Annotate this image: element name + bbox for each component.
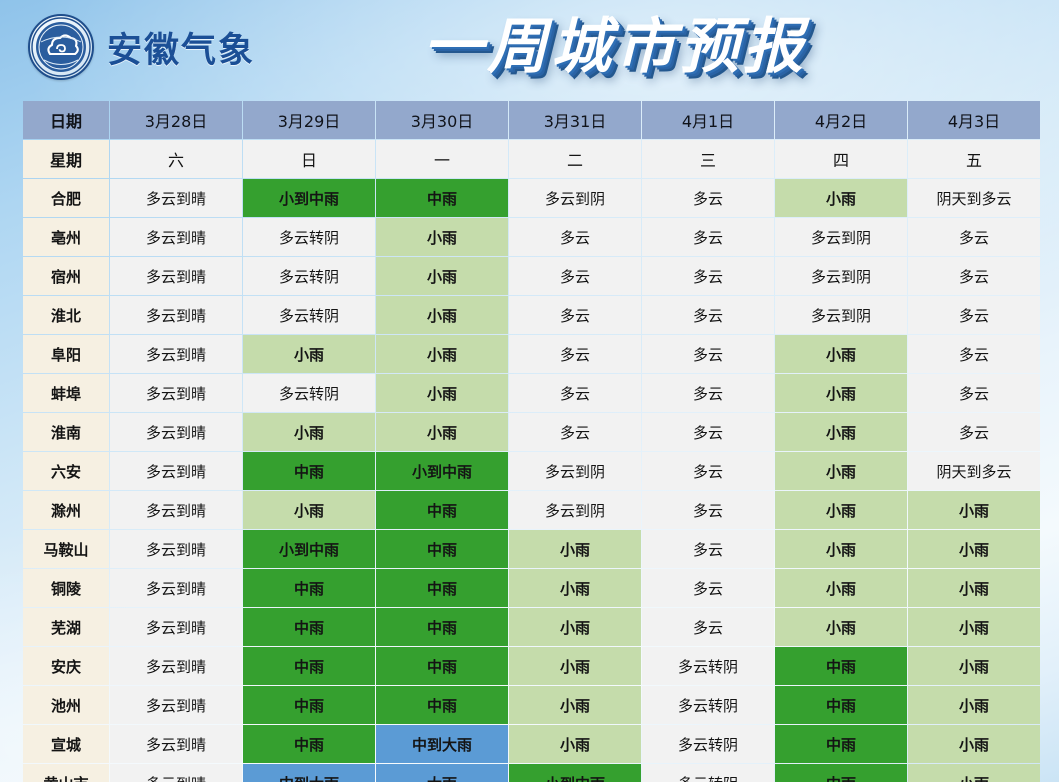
forecast-cell: 小到中雨: [243, 530, 375, 568]
column-header-date-3: 3月30日: [376, 101, 508, 139]
table-row: 蚌埠多云到晴多云转阴小雨多云多云小雨多云: [23, 374, 1040, 412]
forecast-cell: 小雨: [775, 569, 907, 607]
brand-block: 安徽气象: [28, 14, 255, 80]
forecast-cell: 多云: [642, 452, 774, 490]
forecast-table-container: 日期3月28日3月29日3月30日3月31日4月1日4月2日4月3日 星期六日一…: [22, 100, 1037, 782]
weekday-cell-1: 六: [110, 140, 242, 178]
table-row: 池州多云到晴中雨中雨小雨多云转阴中雨小雨: [23, 686, 1040, 724]
forecast-cell: 中雨: [775, 686, 907, 724]
forecast-cell: 小雨: [908, 686, 1040, 724]
forecast-cell: 多云到阴: [509, 452, 641, 490]
table-row: 淮南多云到晴小雨小雨多云多云小雨多云: [23, 413, 1040, 451]
weekday-cell-7: 五: [908, 140, 1040, 178]
forecast-cell: 多云到晴: [110, 647, 242, 685]
forecast-cell: 小雨: [243, 413, 375, 451]
forecast-cell: 小雨: [908, 530, 1040, 568]
city-name-cell: 马鞍山: [23, 530, 109, 568]
city-name-cell: 六安: [23, 452, 109, 490]
forecast-cell: 小雨: [775, 413, 907, 451]
forecast-cell: 小雨: [908, 647, 1040, 685]
forecast-cell: 小雨: [376, 257, 508, 295]
forecast-cell: 小雨: [775, 491, 907, 529]
city-name-cell: 蚌埠: [23, 374, 109, 412]
city-name-cell: 宿州: [23, 257, 109, 295]
weekday-cell-3: 一: [376, 140, 508, 178]
brand-name: 安徽气象: [107, 22, 255, 73]
forecast-cell: 多云转阴: [642, 725, 774, 763]
forecast-cell: 多云到晴: [110, 764, 242, 782]
column-header-date-1: 3月28日: [110, 101, 242, 139]
forecast-cell: 小雨: [376, 413, 508, 451]
forecast-cell: 多云到晴: [110, 686, 242, 724]
forecast-cell: 多云到晴: [110, 608, 242, 646]
forecast-cell: 中到大雨: [243, 764, 375, 782]
forecast-cell: 多云: [642, 413, 774, 451]
forecast-cell: 小雨: [243, 335, 375, 373]
forecast-cell: 多云到阴: [775, 257, 907, 295]
weekday-cell-6: 四: [775, 140, 907, 178]
forecast-cell: 多云到晴: [110, 374, 242, 412]
page-title: 一周城市预报: [380, 8, 850, 86]
forecast-cell: 多云: [908, 413, 1040, 451]
forecast-cell: 多云到晴: [110, 335, 242, 373]
forecast-cell: 中雨: [376, 608, 508, 646]
forecast-cell: 中雨: [775, 647, 907, 685]
forecast-cell: 多云: [642, 569, 774, 607]
forecast-cell: 多云到阴: [775, 218, 907, 256]
forecast-cell: 小雨: [243, 491, 375, 529]
table-row: 铜陵多云到晴中雨中雨小雨多云小雨小雨: [23, 569, 1040, 607]
forecast-cell: 小雨: [908, 725, 1040, 763]
forecast-cell: 多云: [642, 257, 774, 295]
table-row: 合肥多云到晴小到中雨中雨多云到阴多云小雨阴天到多云: [23, 179, 1040, 217]
table-row: 宿州多云到晴多云转阴小雨多云多云多云到阴多云: [23, 257, 1040, 295]
header-corner-date-label: 日期: [23, 101, 109, 139]
table-row: 芜湖多云到晴中雨中雨小雨多云小雨小雨: [23, 608, 1040, 646]
table-head: 日期3月28日3月29日3月30日3月31日4月1日4月2日4月3日 星期六日一…: [23, 101, 1040, 178]
column-header-date-7: 4月3日: [908, 101, 1040, 139]
forecast-cell: 多云到晴: [110, 491, 242, 529]
forecast-cell: 小雨: [509, 647, 641, 685]
forecast-cell: 多云转阴: [243, 296, 375, 334]
city-name-cell: 安庆: [23, 647, 109, 685]
forecast-cell: 多云: [908, 296, 1040, 334]
forecast-cell: 大雨: [376, 764, 508, 782]
forecast-cell: 小雨: [376, 335, 508, 373]
column-header-date-5: 4月1日: [642, 101, 774, 139]
forecast-cell: 多云到晴: [110, 296, 242, 334]
date-header-row: 日期3月28日3月29日3月30日3月31日4月1日4月2日4月3日: [23, 101, 1040, 139]
forecast-cell: 多云: [642, 608, 774, 646]
city-name-cell: 淮南: [23, 413, 109, 451]
forecast-cell: 多云: [509, 257, 641, 295]
forecast-cell: 多云: [642, 296, 774, 334]
forecast-cell: 中雨: [243, 569, 375, 607]
forecast-cell: 阴天到多云: [908, 179, 1040, 217]
table-row: 滁州多云到晴小雨中雨多云到阴多云小雨小雨: [23, 491, 1040, 529]
forecast-cell: 中雨: [243, 647, 375, 685]
cloud-emblem-icon: [28, 14, 94, 80]
forecast-cell: 小雨: [376, 296, 508, 334]
forecast-cell: 多云到晴: [110, 452, 242, 490]
table-row: 六安多云到晴中雨小到中雨多云到阴多云小雨阴天到多云: [23, 452, 1040, 490]
city-name-cell: 宣城: [23, 725, 109, 763]
forecast-cell: 多云: [642, 374, 774, 412]
forecast-cell: 小雨: [775, 179, 907, 217]
forecast-cell: 多云到晴: [110, 257, 242, 295]
weekday-cell-4: 二: [509, 140, 641, 178]
forecast-cell: 多云转阴: [243, 218, 375, 256]
forecast-cell: 中雨: [243, 686, 375, 724]
forecast-cell: 中雨: [243, 725, 375, 763]
forecast-cell: 多云到晴: [110, 413, 242, 451]
city-name-cell: 淮北: [23, 296, 109, 334]
city-name-cell: 池州: [23, 686, 109, 724]
forecast-cell: 多云到阴: [775, 296, 907, 334]
forecast-cell: 小雨: [509, 725, 641, 763]
city-name-cell: 亳州: [23, 218, 109, 256]
column-header-date-2: 3月29日: [243, 101, 375, 139]
forecast-cell: 小雨: [775, 608, 907, 646]
weekday-cell-5: 三: [642, 140, 774, 178]
forecast-cell: 小雨: [775, 530, 907, 568]
forecast-cell: 小雨: [775, 374, 907, 412]
forecast-cell: 阴天到多云: [908, 452, 1040, 490]
forecast-cell: 多云: [642, 218, 774, 256]
table-row: 亳州多云到晴多云转阴小雨多云多云多云到阴多云: [23, 218, 1040, 256]
forecast-cell: 中雨: [243, 608, 375, 646]
forecast-cell: 多云转阴: [642, 686, 774, 724]
forecast-cell: 多云转阴: [642, 647, 774, 685]
forecast-cell: 小到中雨: [243, 179, 375, 217]
column-header-date-4: 3月31日: [509, 101, 641, 139]
forecast-cell: 多云到晴: [110, 179, 242, 217]
city-name-cell: 黄山市: [23, 764, 109, 782]
forecast-cell: 多云: [509, 413, 641, 451]
forecast-cell: 多云到阴: [509, 179, 641, 217]
page-header: 安徽气象 一周城市预报: [0, 0, 1059, 92]
forecast-cell: 多云到晴: [110, 569, 242, 607]
forecast-cell: 小雨: [509, 530, 641, 568]
forecast-cell: 中雨: [376, 179, 508, 217]
forecast-cell: 中雨: [376, 491, 508, 529]
table-row: 淮北多云到晴多云转阴小雨多云多云多云到阴多云: [23, 296, 1040, 334]
city-name-cell: 合肥: [23, 179, 109, 217]
forecast-cell: 中雨: [376, 647, 508, 685]
forecast-cell: 多云到晴: [110, 725, 242, 763]
weekly-city-forecast-table: 日期3月28日3月29日3月30日3月31日4月1日4月2日4月3日 星期六日一…: [22, 100, 1041, 782]
column-header-date-6: 4月2日: [775, 101, 907, 139]
forecast-cell: 多云: [908, 218, 1040, 256]
table-row: 宣城多云到晴中雨中到大雨小雨多云转阴中雨小雨: [23, 725, 1040, 763]
forecast-cell: 多云到阴: [509, 491, 641, 529]
forecast-cell: 小雨: [376, 374, 508, 412]
weekday-cell-2: 日: [243, 140, 375, 178]
forecast-cell: 小雨: [908, 569, 1040, 607]
forecast-cell: 多云转阴: [642, 764, 774, 782]
city-name-cell: 阜阳: [23, 335, 109, 373]
forecast-cell: 小雨: [509, 569, 641, 607]
forecast-cell: 中雨: [376, 569, 508, 607]
forecast-cell: 小雨: [908, 491, 1040, 529]
city-name-cell: 芜湖: [23, 608, 109, 646]
city-name-cell: 铜陵: [23, 569, 109, 607]
forecast-cell: 中雨: [243, 452, 375, 490]
forecast-cell: 小雨: [775, 335, 907, 373]
city-name-cell: 滁州: [23, 491, 109, 529]
forecast-cell: 小雨: [775, 452, 907, 490]
table-row: 安庆多云到晴中雨中雨小雨多云转阴中雨小雨: [23, 647, 1040, 685]
forecast-cell: 小雨: [509, 608, 641, 646]
forecast-cell: 多云转阴: [243, 374, 375, 412]
forecast-cell: 小雨: [908, 608, 1040, 646]
forecast-cell: 多云转阴: [243, 257, 375, 295]
forecast-cell: 中雨: [775, 764, 907, 782]
table-row: 黄山市多云到晴中到大雨大雨小到中雨多云转阴中雨小雨: [23, 764, 1040, 782]
forecast-cell: 小到中雨: [509, 764, 641, 782]
forecast-cell: 中雨: [775, 725, 907, 763]
forecast-cell: 多云: [509, 296, 641, 334]
forecast-cell: 小雨: [908, 764, 1040, 782]
forecast-cell: 多云: [642, 530, 774, 568]
forecast-cell: 中雨: [376, 686, 508, 724]
forecast-cell: 多云: [509, 218, 641, 256]
forecast-cell: 多云到晴: [110, 218, 242, 256]
forecast-cell: 中到大雨: [376, 725, 508, 763]
forecast-cell: 多云: [908, 374, 1040, 412]
forecast-cell: 多云: [642, 335, 774, 373]
forecast-cell: 多云到晴: [110, 530, 242, 568]
forecast-cell: 多云: [908, 335, 1040, 373]
forecast-cell: 小雨: [509, 686, 641, 724]
table-body: 合肥多云到晴小到中雨中雨多云到阴多云小雨阴天到多云亳州多云到晴多云转阴小雨多云多…: [23, 179, 1040, 782]
forecast-cell: 多云: [509, 374, 641, 412]
forecast-cell: 小雨: [376, 218, 508, 256]
table-row: 马鞍山多云到晴小到中雨中雨小雨多云小雨小雨: [23, 530, 1040, 568]
forecast-cell: 中雨: [376, 530, 508, 568]
weekday-row: 星期六日一二三四五: [23, 140, 1040, 178]
forecast-cell: 多云: [908, 257, 1040, 295]
forecast-cell: 多云: [642, 491, 774, 529]
weekday-row-label: 星期: [23, 140, 109, 178]
forecast-cell: 多云: [509, 335, 641, 373]
table-row: 阜阳多云到晴小雨小雨多云多云小雨多云: [23, 335, 1040, 373]
forecast-cell: 小到中雨: [376, 452, 508, 490]
forecast-cell: 多云: [642, 179, 774, 217]
